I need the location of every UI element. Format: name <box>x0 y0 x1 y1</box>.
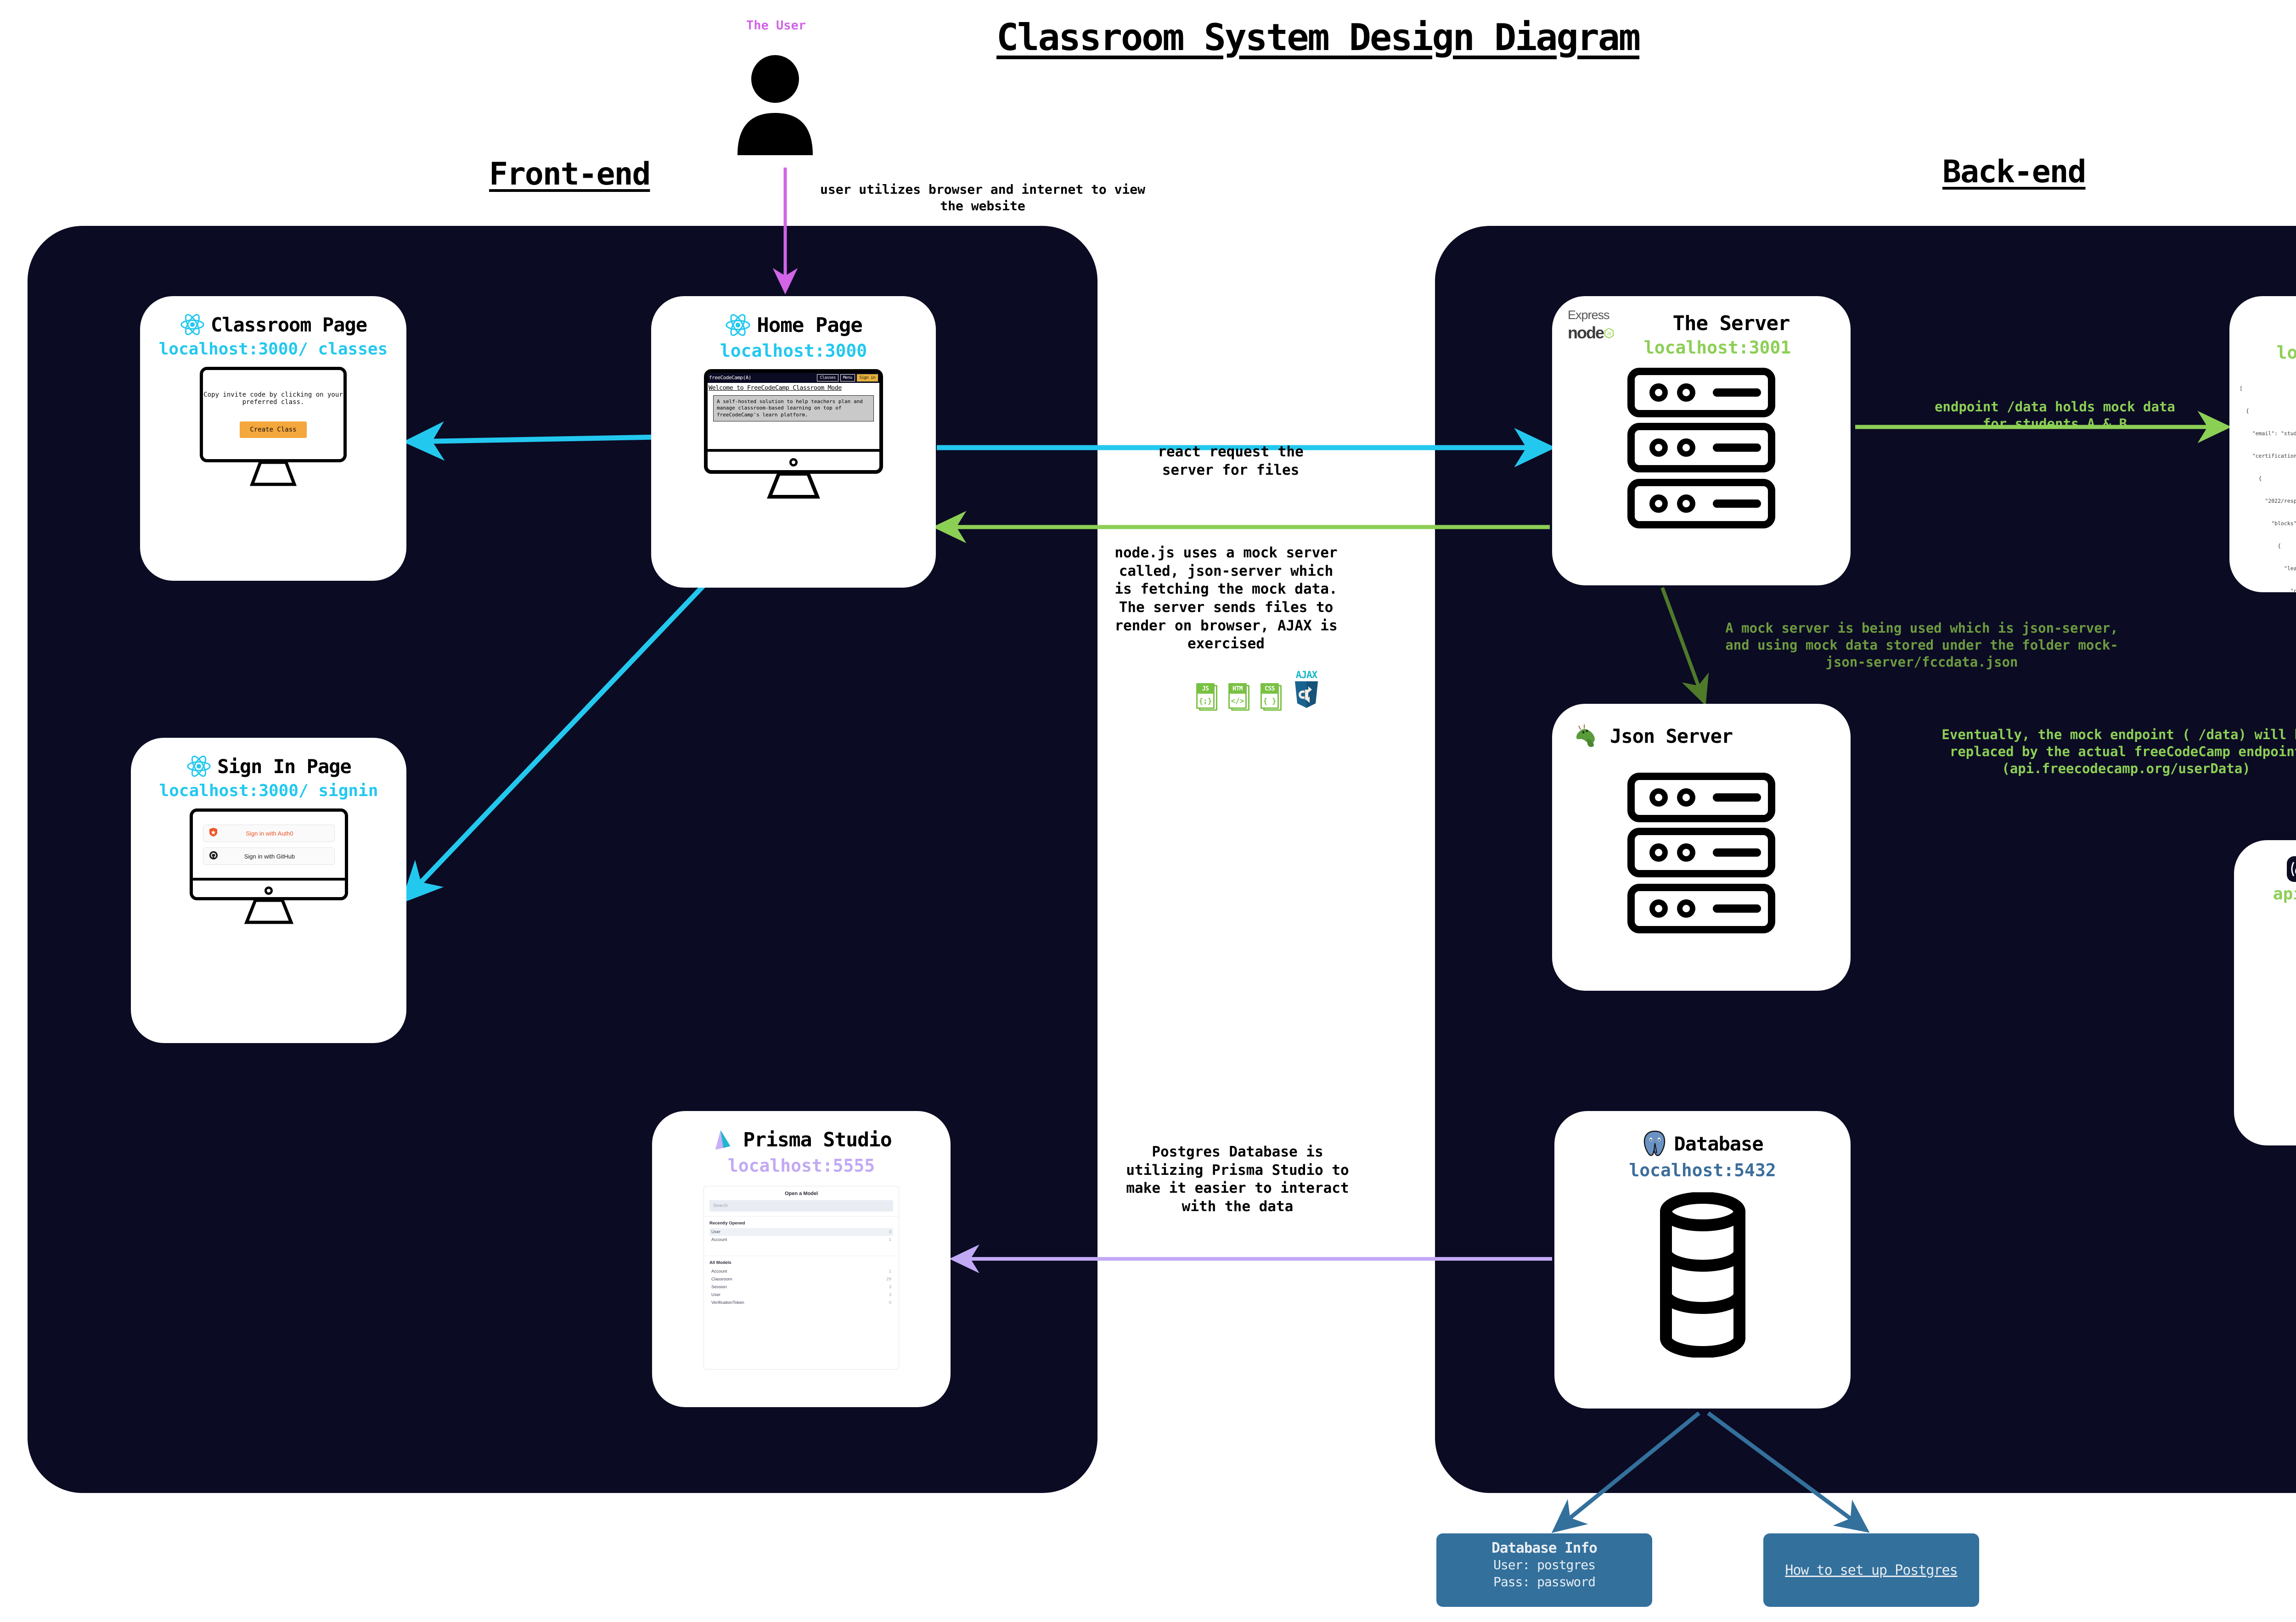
model-count: 1 <box>889 1237 891 1242</box>
model-name: Classroom <box>711 1277 732 1282</box>
monitor-illustration: freeCodeCamp(A) Classes Menu Sign in Wel… <box>704 369 883 500</box>
list-item[interactable]: Account 1 <box>709 1236 893 1244</box>
how-to-setup-postgres-box[interactable]: How to set up Postgres <box>1763 1533 1979 1607</box>
github-label: Sign in with GitHub <box>224 853 334 860</box>
json-line: [ <box>2240 385 2296 392</box>
json-line: "completedChallenges": [ <box>2240 587 2296 595</box>
prisma-panel-title: Open a Model <box>704 1186 899 1200</box>
list-item[interactable]: Account 1 <box>709 1268 893 1275</box>
card-home-page[interactable]: Home Page localhost:3000 freeCodeCamp(A)… <box>651 296 936 588</box>
annotation-endpoint-data: endpoint /data holds mock data for stude… <box>1883 398 2227 432</box>
database-info-user: User: postgres <box>1442 1556 1647 1573</box>
annotation-react-request: react request the server for files <box>1102 443 1359 479</box>
welcome-paragraph: A self-hosted solution to help teachers … <box>713 395 874 422</box>
ajax-shield-icon <box>1294 680 1319 709</box>
card-json-server[interactable]: Json Server <box>1552 704 1851 991</box>
model-name: Account <box>711 1237 727 1242</box>
express-logo: Express <box>1568 308 1637 322</box>
model-count: 29 <box>886 1277 891 1282</box>
freecodecamp-logo <box>2286 856 2296 882</box>
js-file-glyph: {;} <box>1198 694 1213 708</box>
list-item[interactable]: Session 3 <box>709 1283 893 1291</box>
json-line: "learn-basic-css-by-building-a-cafe-menu… <box>2240 565 2296 572</box>
card-title: Json Server <box>1610 725 1733 747</box>
all-models-header: All Models <box>709 1260 893 1265</box>
model-name: Session <box>711 1285 727 1290</box>
auth0-icon <box>203 828 224 839</box>
how-to-setup-postgres-link[interactable]: How to set up Postgres <box>1785 1562 1957 1578</box>
react-icon <box>186 753 212 779</box>
html-file-icon: HTM</> <box>1228 683 1250 711</box>
model-count: 3 <box>889 1285 891 1290</box>
create-class-button[interactable]: Create Class <box>240 421 306 438</box>
database-info-title: Database Info <box>1442 1540 1647 1556</box>
json-line: "challengeName": "Step 1", <box>2240 655 2296 662</box>
fcc-brand-label: freeCodeCamp(A) <box>709 375 815 381</box>
json-line: "blocks": [ <box>2240 520 2296 527</box>
server-rack-icon <box>1626 368 1777 533</box>
welcome-heading: Welcome to FreeCodeCamp Classroom Mode <box>709 384 878 392</box>
prisma-search-input[interactable]: Search <box>709 1200 893 1212</box>
json-line: "email": "student[A]@gmail.com", <box>2240 430 2296 437</box>
json-line: "id": "5f33071498eb2472b87ddee4", <box>2240 632 2296 640</box>
card-sign-in-page[interactable]: Sign In Page localhost:3000/ signin Sign… <box>131 738 406 1043</box>
front-end-header: Front-end <box>489 156 650 192</box>
list-item[interactable]: User 3 <box>709 1291 893 1299</box>
model-name: User <box>711 1292 720 1297</box>
nav-menu-button[interactable]: Menu <box>840 374 855 382</box>
card-title: Database <box>1674 1133 1763 1155</box>
html-file-glyph: </> <box>1230 694 1245 708</box>
react-icon <box>725 312 751 338</box>
js-file-icon: JS{;} <box>1196 683 1218 711</box>
annotation-postgres-prisma: Postgres Database is utilizing Prisma St… <box>1107 1143 1368 1216</box>
database-info-pass: Pass: password <box>1442 1573 1647 1590</box>
json-line: { <box>2240 610 2296 617</box>
card-title: Classroom Page <box>211 314 367 336</box>
card-url: api.freecodecamp.org/ userData <box>2234 885 2296 922</box>
card-mock-data[interactable]: Mock Data localhost:3001/data [ { "email… <box>2229 296 2296 592</box>
card-title: Home Page <box>757 314 862 337</box>
prisma-recently-opened-section: Recently Opened User 3 Account 1 <box>704 1216 899 1246</box>
card-the-server[interactable]: Express node JS The Server localhost:300… <box>1552 296 1851 585</box>
model-name: Account <box>711 1269 727 1274</box>
svg-text:JS: JS <box>1607 331 1612 336</box>
card-title: The Server <box>1673 312 1790 335</box>
sign-in-with-github-button[interactable]: Sign in with GitHub <box>203 847 335 865</box>
model-count: 3 <box>889 1229 891 1235</box>
model-count: 3 <box>889 1292 891 1297</box>
card-url: localhost:3000 <box>651 341 936 361</box>
postgresql-elephant-icon <box>1642 1129 1668 1158</box>
page-title: Classroom System Design Diagram <box>996 16 1639 59</box>
database-cylinder-icon <box>1657 1192 1749 1358</box>
card-freecodecamp-api[interactable]: FreeCodeCamp API api.freecodecamp.org/ u… <box>2234 840 2296 1145</box>
back-end-header: Back-end <box>1942 154 2086 190</box>
annotation-mock-server: A mock server is being used which is jso… <box>1653 620 2190 671</box>
user-label: The User <box>746 18 806 33</box>
server-rack-icon <box>1626 773 1777 938</box>
recently-opened-header: Recently Opened <box>709 1221 893 1226</box>
list-item[interactable]: Classroom 29 <box>709 1275 893 1283</box>
json-line: "2022/responsive-web-design": { <box>2240 497 2296 505</box>
html-file-label: HTM <box>1230 685 1245 694</box>
model-name: VerificationToken <box>711 1300 744 1305</box>
annotation-node-mock: node.js uses a mock server called, json-… <box>1079 544 1373 653</box>
card-url: localhost:5432 <box>1554 1161 1851 1180</box>
card-url: localhost:3001/data <box>2229 343 2296 363</box>
server-logo-group: Express node JS <box>1568 308 1637 342</box>
json-line: { <box>2240 407 2296 415</box>
card-prisma-studio[interactable]: Prisma Studio localhost:5555 Open a Mode… <box>652 1111 951 1407</box>
ajax-icon: AJAX <box>1293 669 1320 711</box>
css-file-label: CSS <box>1262 685 1277 694</box>
list-item[interactable]: User 3 <box>709 1228 893 1236</box>
tech-icon-row: JS{;} HTM</> CSS{ } AJAX <box>1196 669 1320 711</box>
classroom-hint-text: Copy invite code by clicking on your pre… <box>203 391 343 406</box>
json-line: { <box>2240 542 2296 550</box>
card-url: localhost:3000/ classes <box>140 340 406 359</box>
monitor-stand <box>200 462 347 486</box>
user-avatar-icon <box>729 51 821 156</box>
sign-in-with-auth0-button[interactable]: Sign in with Auth0 <box>203 825 335 842</box>
diagram-canvas: Classroom System Design Diagram The User… <box>0 0 2296 1622</box>
card-title: Prisma Studio <box>743 1128 892 1151</box>
auth0-label: Sign in with Auth0 <box>224 830 334 837</box>
model-count: 1 <box>889 1269 891 1274</box>
json-line: "completedDate": 1475094716730, <box>2240 677 2296 685</box>
monitor-illustration: Sign in with Auth0 Sign in with GitHub <box>190 808 348 926</box>
card-url: localhost:3000/ signin <box>131 782 406 800</box>
nav-signin-button[interactable]: Sign in <box>857 374 878 382</box>
browser-navbar: freeCodeCamp(A) Classes Menu Sign in <box>708 373 879 383</box>
lizard-icon <box>1574 723 1599 749</box>
list-item[interactable]: VerificationToken 0 <box>709 1299 893 1307</box>
ajax-label: AJAX <box>1293 669 1320 680</box>
annotation-eventual-endpoint: Eventually, the mock endpoint ( /data) w… <box>1896 726 2296 777</box>
monitor-illustration: Copy invite code by clicking on your pre… <box>200 367 347 488</box>
card-database[interactable]: Database localhost:5432 <box>1554 1111 1851 1409</box>
github-icon <box>203 851 224 862</box>
prisma-model-picker[interactable]: Open a Model Search Recently Opened User… <box>703 1186 899 1369</box>
css-file-icon: CSS{ } <box>1261 683 1283 711</box>
database-info-box: Database Info User: postgres Pass: passw… <box>1436 1533 1652 1607</box>
prisma-all-models-section: All Models Account 1 Classroom 29 Sessio… <box>704 1256 899 1308</box>
json-line: { <box>2240 475 2296 482</box>
nodejs-logo: node JS <box>1568 323 1637 342</box>
card-title: Sign In Page <box>217 755 351 778</box>
monitor-stand <box>704 474 883 499</box>
json-line: "certifications": [ <box>2240 452 2296 460</box>
annotation-user-browser: user utilizes browser and internet to vi… <box>776 181 1189 214</box>
card-classroom-page[interactable]: Classroom Page localhost:3000/ classes C… <box>140 296 406 581</box>
model-name: User <box>711 1229 720 1235</box>
js-file-label: JS <box>1198 685 1213 694</box>
model-count: 0 <box>889 1300 891 1305</box>
json-line: "files": [ <box>2240 700 2296 707</box>
monitor-stand <box>190 900 348 924</box>
react-icon <box>180 312 205 337</box>
mock-data-json-snippet: [ { "email": "student[A]@gmail.com", "ce… <box>2229 363 2296 722</box>
card-url: localhost:5555 <box>652 1156 951 1176</box>
css-file-glyph: { } <box>1262 694 1277 708</box>
prisma-icon <box>711 1127 737 1153</box>
nav-classes-button[interactable]: Classes <box>817 374 838 382</box>
